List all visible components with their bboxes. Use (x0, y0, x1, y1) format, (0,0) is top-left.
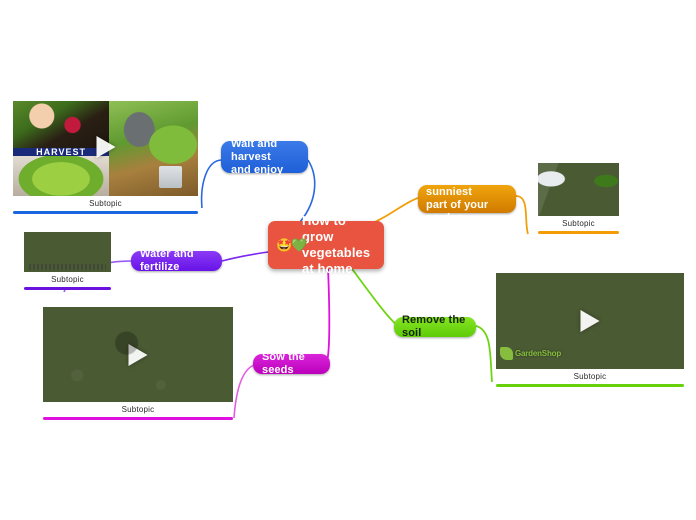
branch-underline (13, 211, 198, 214)
subtopic-card-water[interactable]: Subtopic (24, 232, 111, 290)
branch-underline (496, 384, 684, 387)
subtopic-caption: Subtopic (538, 216, 619, 231)
mindmap-canvas[interactable]: 🤩💚 How to grow vegetables at home Wait a… (0, 0, 696, 520)
play-button-icon[interactable] (129, 344, 148, 366)
photo-credit-text (29, 264, 106, 270)
watering-thumbnail[interactable] (24, 232, 111, 272)
link-central-water (222, 252, 268, 261)
subtopic-card-sunniest[interactable]: Subtopic (538, 163, 619, 234)
peas-bowl-photo (13, 151, 109, 196)
radish-photo (13, 101, 109, 151)
topic-label: Sow the seeds (262, 351, 321, 377)
topic-label: Chose the sunniest part of your garden (426, 173, 508, 225)
removing-soil-thumbnail[interactable]: GardenShop (496, 273, 684, 369)
subtopic-card-remove[interactable]: GardenShop Subtopic (496, 273, 684, 387)
central-emoji-icon: 🤩💚 (276, 239, 306, 252)
harvest-overlay-banner: HARVEST (13, 148, 109, 157)
watermark-text: GardenShop (515, 349, 561, 358)
gardenshop-watermark: GardenShop (500, 347, 561, 360)
topic-water-and-fertilize[interactable]: Water and fertilize (131, 251, 222, 271)
leaf-icon (500, 347, 513, 360)
branch-underline (43, 417, 233, 420)
lawn-thumbnail[interactable] (538, 163, 619, 216)
subtopic-caption: Subtopic (13, 196, 198, 211)
topic-remove-the-soil[interactable]: Remove the soil (394, 317, 476, 337)
subtopic-caption: Subtopic (43, 402, 233, 417)
garden-bed-photo (109, 101, 198, 196)
topic-label: Remove the soil (402, 314, 468, 340)
branch-underline (538, 231, 619, 234)
subtopic-card-harvest[interactable]: HARVEST Subtopic (13, 101, 198, 214)
branch-underline (24, 287, 111, 290)
link-harvest-card (202, 160, 222, 208)
play-button-icon[interactable] (96, 136, 115, 158)
topic-label: Wait and harvest and enjoy (231, 138, 298, 177)
central-topic[interactable]: 🤩💚 How to grow vegetables at home (268, 221, 384, 269)
topic-chose-the-sunniest[interactable]: Chose the sunniest part of your garden (418, 185, 516, 213)
link-sunniest-card (516, 196, 528, 234)
subtopic-caption: Subtopic (24, 272, 111, 287)
topic-wait-and-harvest[interactable]: Wait and harvest and enjoy (221, 141, 308, 173)
link-sow-card (234, 364, 258, 418)
harvest-overlay-text: HARVEST (36, 147, 86, 157)
topic-sow-the-seeds[interactable]: Sow the seeds (253, 354, 330, 374)
subtopic-caption: Subtopic (496, 369, 684, 384)
topic-label: Water and fertilize (140, 248, 213, 274)
central-topic-label: How to grow vegetables at home (302, 213, 372, 277)
link-central-sow (326, 268, 329, 364)
harvest-thumbnail[interactable]: HARVEST (13, 101, 198, 196)
play-button-icon[interactable] (581, 310, 600, 332)
sowing-thumbnail[interactable] (43, 307, 233, 402)
link-remove-card (476, 326, 492, 382)
subtopic-card-sow[interactable]: Subtopic (43, 307, 233, 420)
harvest-tub (159, 166, 182, 189)
